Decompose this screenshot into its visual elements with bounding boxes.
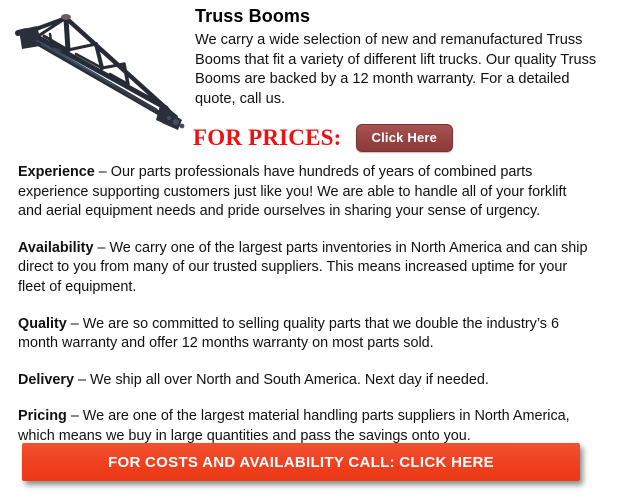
truss-boom-product-image bbox=[6, 4, 192, 136]
cta-call-banner[interactable]: FOR COSTS AND AVAILABILITY CALL: CLICK H… bbox=[22, 443, 580, 481]
cta-banner-label: FOR COSTS AND AVAILABILITY CALL: CLICK H… bbox=[108, 454, 494, 471]
feature-dash: – bbox=[67, 316, 83, 332]
feature-heading: Quality bbox=[18, 316, 67, 332]
feature-heading: Delivery bbox=[18, 372, 74, 388]
feature-heading: Availability bbox=[18, 240, 93, 256]
feature-dash: – bbox=[67, 408, 83, 424]
feature-body: We ship all over North and South America… bbox=[90, 372, 489, 388]
product-description: We carry a wide selection of new and rem… bbox=[195, 31, 607, 109]
feature-item: Availability – We carry one of the large… bbox=[18, 239, 594, 298]
feature-heading: Experience bbox=[18, 164, 95, 180]
for-prices-row: FOR PRICES: Click Here bbox=[193, 124, 453, 152]
feature-body: We are one of the largest material handl… bbox=[18, 408, 570, 444]
feature-dash: – bbox=[95, 164, 111, 180]
feature-dash: – bbox=[93, 240, 109, 256]
feature-item: Pricing – We are one of the largest mate… bbox=[18, 407, 594, 446]
page-title: Truss Booms bbox=[195, 6, 607, 27]
product-intro: Truss Booms We carry a wide selection of… bbox=[195, 6, 607, 109]
feature-item: Quality – We are so committed to selling… bbox=[18, 315, 594, 354]
click-here-button[interactable]: Click Here bbox=[356, 124, 454, 152]
feature-item: Delivery – We ship all over North and So… bbox=[18, 371, 594, 391]
feature-item: Experience – Our parts professionals hav… bbox=[18, 163, 594, 222]
feature-heading: Pricing bbox=[18, 408, 67, 424]
features-list: Experience – Our parts professionals hav… bbox=[18, 163, 594, 447]
product-header-section: Truss Booms We carry a wide selection of… bbox=[0, 0, 619, 160]
feature-dash: – bbox=[74, 372, 90, 388]
for-prices-label: FOR PRICES: bbox=[193, 125, 342, 151]
feature-body: We are so committed to selling quality p… bbox=[18, 316, 559, 352]
